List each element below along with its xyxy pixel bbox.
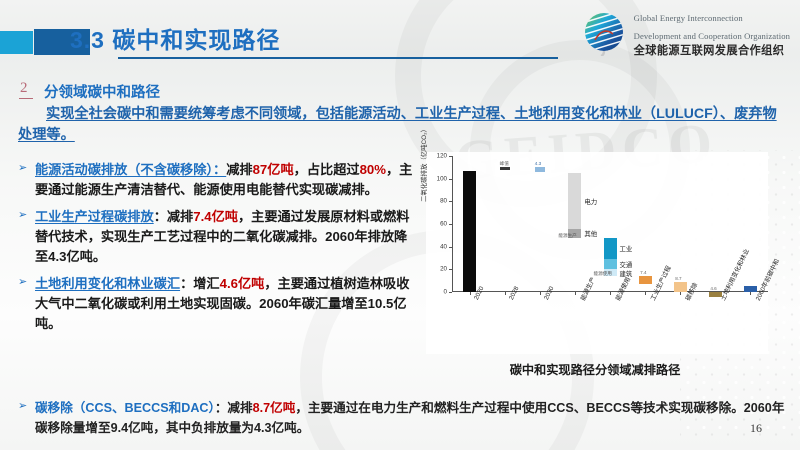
chart-y-tick: 60 xyxy=(440,221,447,228)
arrow-icon: ➢ xyxy=(18,208,27,221)
chart-y-gridtick xyxy=(449,292,452,293)
bullet-key: 土地利用变化和林业碳汇 xyxy=(35,276,180,291)
arrow-icon: ➢ xyxy=(18,399,27,412)
chart-x-label: 土地利用变化和林业 xyxy=(718,247,751,302)
page-title: 3.3 碳中和实现路径 xyxy=(70,21,280,55)
chart-bar-value: 7.4 xyxy=(640,270,646,275)
chart-y-ticks: 020406080100120 xyxy=(426,152,450,292)
logo-cn: 全球能源互联网发展合作组织 xyxy=(634,45,790,58)
chart-y-gridtick xyxy=(449,247,452,248)
chart-bar xyxy=(744,286,757,292)
chart-x-tick xyxy=(505,292,506,295)
logo-en-line1: Global Energy Interconnection xyxy=(634,13,743,23)
section-number: 2 xyxy=(20,80,28,97)
chart-series-label: 工业 xyxy=(620,244,633,253)
bullet-rest: ，占比超过 xyxy=(294,162,360,177)
chart-bar xyxy=(639,276,652,283)
chart-bar xyxy=(463,171,476,292)
section-paragraph: 实现全社会碳中和需要统筹考虑不同领域，包括能源活动、工业生产过程、土地利用变化和… xyxy=(18,104,784,146)
bullet-pre: 减排 xyxy=(227,401,252,415)
chart-y-tick: 120 xyxy=(437,153,447,160)
chart-x-label: 2030 xyxy=(543,285,555,301)
chart-x-tick xyxy=(645,292,646,295)
bullet-value2: 80% xyxy=(360,162,386,177)
section-heading: 分领域碳中和路径 xyxy=(44,81,160,102)
bullet-pre: 减排 xyxy=(167,209,193,224)
chart-bar-value: 4.6 xyxy=(710,286,716,291)
chart-bar xyxy=(535,167,545,172)
chart-title: 碳中和实现路径分领域减排路径 xyxy=(404,360,786,378)
chart-bar-value: 峰值 xyxy=(500,161,509,167)
chart-y-gridtick xyxy=(449,224,452,225)
header-accent-cyan xyxy=(0,31,33,54)
bullet-item-industry: ➢ 工业生产过程碳排放：减排7.4亿吨，主要通过发展原材料或燃料替代技术，实现生… xyxy=(18,207,416,267)
chart-bar xyxy=(709,292,722,297)
chart-x-label: 2060年前碳中和 xyxy=(753,257,781,302)
chart-y-axis xyxy=(452,156,453,292)
bullet-item-lulucf: ➢ 土地利用变化和林业碳汇：增汇4.6亿吨，主要通过植树造林吸收大气中二氧化碳或… xyxy=(18,274,416,334)
bullet-pre: 减排 xyxy=(226,162,252,177)
chart-x-tick xyxy=(470,292,471,295)
bullet-key: 碳移除（CCS、BECCS和DAC） xyxy=(35,401,215,415)
chart-bar-value: 能源使用 xyxy=(594,271,612,277)
organization-logo: Global Energy Interconnection Developmen… xyxy=(581,7,790,59)
chart-x-tick xyxy=(750,292,751,295)
chart-bar xyxy=(674,282,687,292)
chart-bar xyxy=(500,167,510,169)
bullet-item-carbon-removal: ➢ 碳移除（CCS、BECCS和DAC）：减排8.7亿吨，主要通过在电力生产和燃… xyxy=(18,398,795,438)
bullet-value: 87亿吨 xyxy=(253,162,294,177)
chart-y-gridtick xyxy=(449,156,452,157)
chart-y-gridtick xyxy=(449,269,452,270)
chart-x-tick xyxy=(540,292,541,295)
chart-bar-segment xyxy=(604,259,617,269)
chart-y-tick: 40 xyxy=(440,243,447,250)
chart-series-label: 建筑 xyxy=(620,269,633,278)
chart-y-tick: 100 xyxy=(437,175,447,182)
chart-x-label: 工业生产过程 xyxy=(648,264,673,302)
bullet-sep: ： xyxy=(154,209,167,224)
slide-header: 3.3 碳中和实现路径 xyxy=(0,0,800,68)
chart-x-label: 能源生产 xyxy=(578,275,597,302)
chart-bar-segment xyxy=(604,238,617,260)
section-number-underline xyxy=(19,98,33,99)
chart-x-tick xyxy=(680,292,681,295)
chart-series-label: 电力 xyxy=(584,197,597,206)
chart-bar-value: 8.7 xyxy=(675,276,681,281)
bullet-value: 4.6亿吨 xyxy=(220,276,265,291)
bullet-sep: ： xyxy=(180,276,193,291)
chart-x-label: 能源使用 xyxy=(613,275,632,302)
chart-y-tick: 0 xyxy=(444,289,447,296)
chart-bars: 202020282030能源生产能源使用工业生产过程碳移除土地利用变化和林业20… xyxy=(452,156,768,292)
bullet-item-energy: ➢ 能源活动碳排放（不含碳移除）：减排87亿吨，占比超过80%，主要通过能源生产… xyxy=(18,160,416,200)
chart-series-label: 其他 xyxy=(584,229,597,238)
header-underline xyxy=(118,57,558,59)
chart-bar-segment xyxy=(568,173,581,229)
chart-y-gridtick xyxy=(449,179,452,180)
chart-x-tick xyxy=(575,292,576,295)
bullet-list: ➢ 能源活动碳排放（不含碳移除）：减排87亿吨，占比超过80%，主要通过能源生产… xyxy=(18,160,416,342)
chart-y-tick: 20 xyxy=(440,266,447,273)
chart-y-tick: 80 xyxy=(440,198,447,205)
chart: 二氧化碳排放（亿吨CO₂） 020406080100120 2020202820… xyxy=(404,152,786,384)
chart-y-gridtick xyxy=(449,201,452,202)
chart-bar-value: 能源生产 xyxy=(558,233,576,239)
bullet-sep: ： xyxy=(215,401,228,415)
chart-bar-value: 4.3 xyxy=(535,161,541,166)
bullet-key: 能源活动碳排放（不含碳移除） xyxy=(35,162,213,177)
page-number: 16 xyxy=(750,421,762,436)
chart-plot-area: 二氧化碳排放（亿吨CO₂） 020406080100120 2020202820… xyxy=(426,152,768,354)
bullet-value: 8.7亿吨 xyxy=(253,401,296,415)
globe-icon xyxy=(581,10,627,56)
bullet-sep: ： xyxy=(213,162,226,177)
logo-en-line2: Development and Cooperation Organization xyxy=(634,31,790,41)
arrow-icon: ➢ xyxy=(18,275,27,288)
chart-x-label: 2028 xyxy=(508,285,520,301)
arrow-icon: ➢ xyxy=(18,161,27,174)
chart-x-tick xyxy=(610,292,611,295)
bullet-key: 工业生产过程碳排放 xyxy=(35,209,154,224)
section-paragraph-text: 实现全社会碳中和需要统筹考虑不同领域，包括能源活动、工业生产过程、土地利用变化和… xyxy=(18,106,777,143)
bullet-pre: 增汇 xyxy=(193,276,219,291)
slide: GEIDCO 3.3 碳中和实现路径 xyxy=(0,0,800,450)
bullet-value: 7.4亿吨 xyxy=(193,209,238,224)
